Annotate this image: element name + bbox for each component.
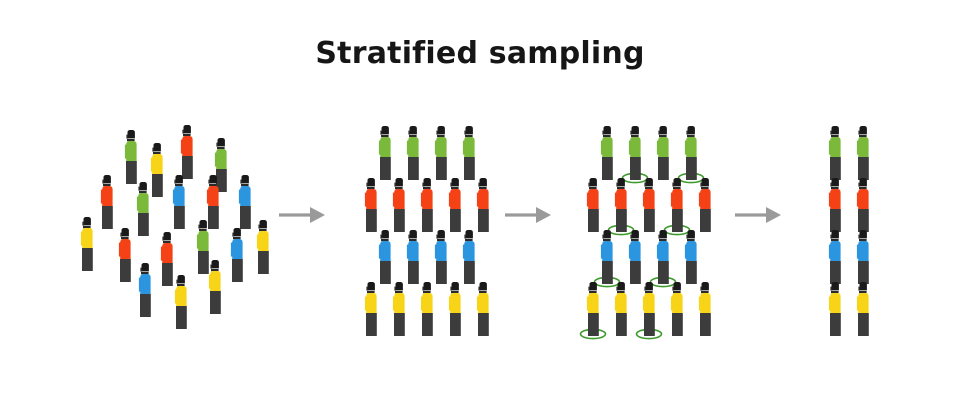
person-icon [414,178,440,234]
person-icon [678,230,704,286]
person-icon [386,178,412,234]
person-icon [822,282,848,338]
person-icon [132,263,158,319]
person-icon [386,282,412,338]
person-icon [372,126,398,182]
person-icon [372,230,398,286]
person-icon [692,282,718,338]
strata-groups [366,126,478,316]
person-icon [400,126,426,182]
person-icon [202,260,228,316]
person-icon [414,282,440,338]
person-icon [442,178,468,234]
person-icon [118,130,144,186]
person-icon [664,282,690,338]
person-icon [470,282,496,338]
person-icon [594,230,620,286]
person-icon [650,126,676,182]
person-icon [400,230,426,286]
person-icon [594,126,620,182]
person-icon [636,178,662,234]
person-icon [166,175,192,231]
person-icon [850,126,876,182]
person-icon [470,178,496,234]
person-icon [850,178,876,234]
arrow-selection-to-sample [735,206,781,224]
person-icon [174,125,200,181]
arrow-strata-to-selection [505,206,551,224]
person-icon [636,282,662,338]
person-icon [358,178,384,234]
final-sample [822,126,882,316]
person-icon [664,178,690,234]
person-icon [692,178,718,234]
person-icon [650,230,676,286]
population-cluster [72,120,257,310]
person-icon [456,126,482,182]
person-icon [168,275,194,331]
person-icon [442,282,468,338]
person-icon [850,230,876,286]
person-icon [622,126,648,182]
sampled-strata-groups [588,126,700,316]
person-icon [74,217,100,273]
person-icon [456,230,482,286]
person-icon [580,178,606,234]
arrow-population-to-strata [279,206,325,224]
person-icon [622,230,648,286]
person-icon [608,178,634,234]
person-icon [822,230,848,286]
person-icon [822,178,848,234]
person-icon [822,126,848,182]
person-icon [850,282,876,338]
person-icon [580,282,606,338]
page-title: Stratified sampling [0,36,960,71]
person-icon [358,282,384,338]
person-icon [428,230,454,286]
person-icon [428,126,454,182]
person-icon [678,126,704,182]
person-icon [608,282,634,338]
diagram-canvas: Stratified sampling [0,0,960,400]
person-icon [250,220,276,276]
